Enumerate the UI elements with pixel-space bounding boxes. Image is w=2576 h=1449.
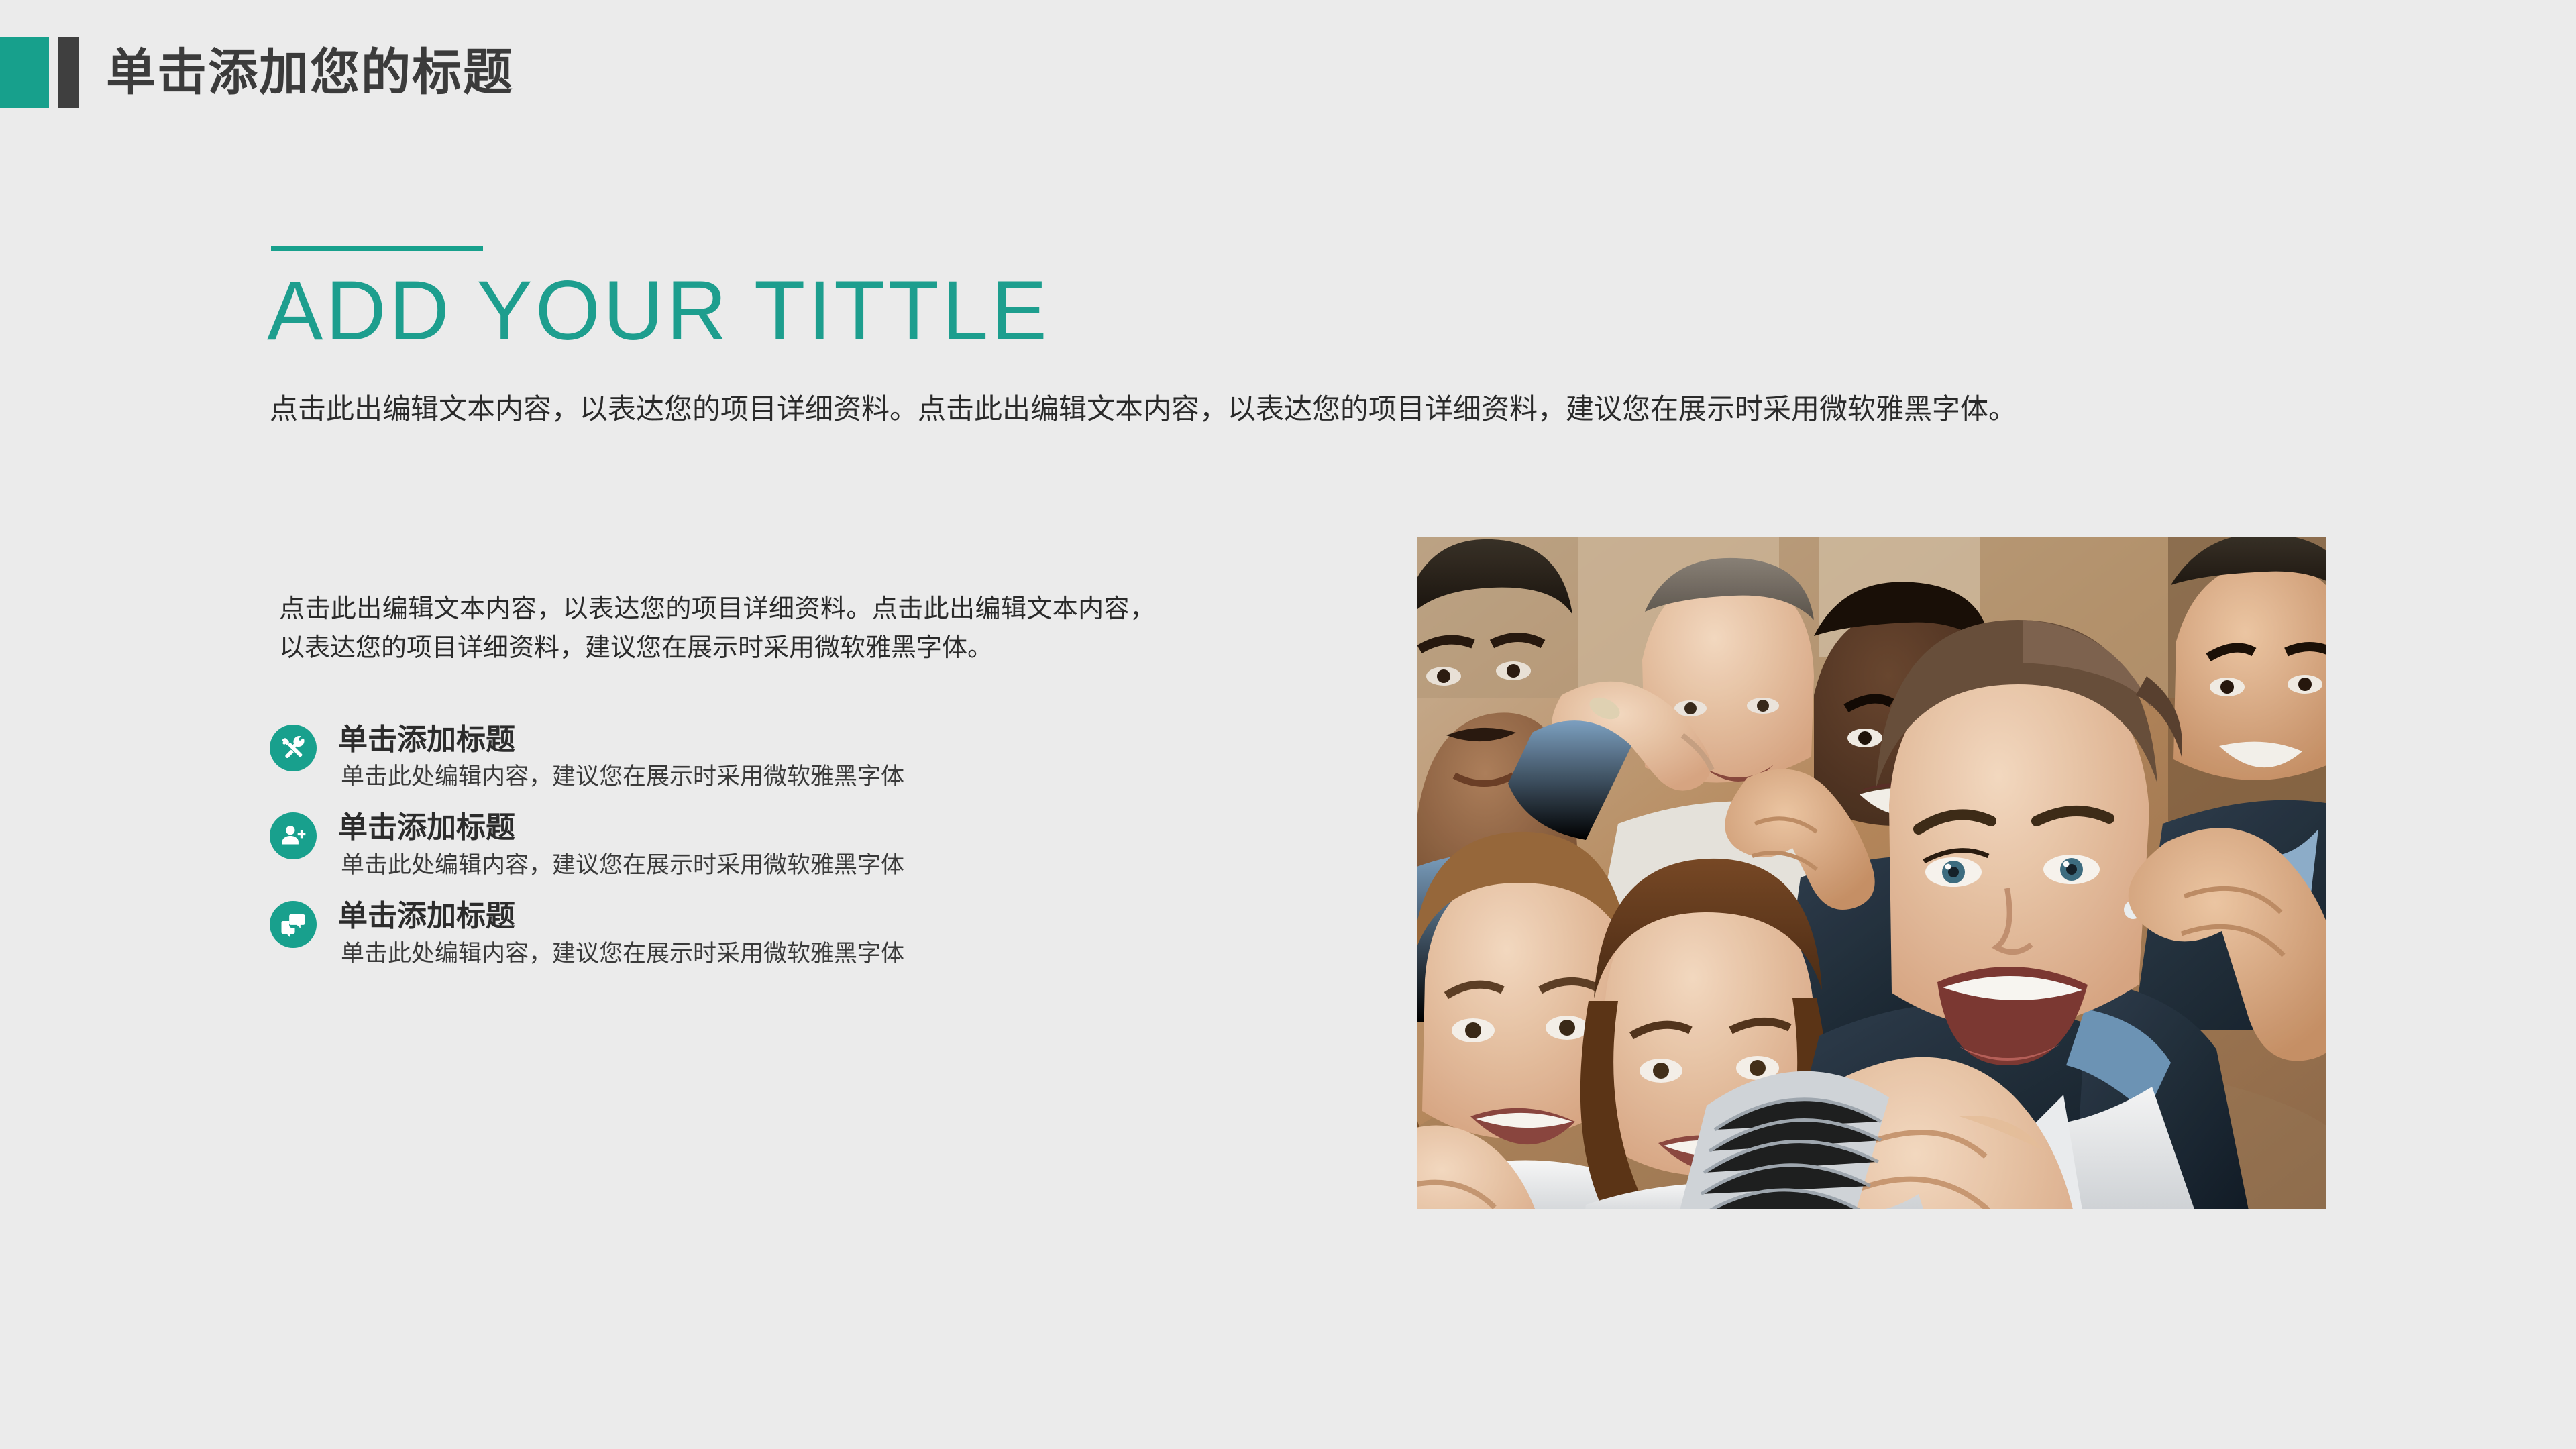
feature-title: 单击添加标题 — [338, 723, 1155, 757]
header-accent-gap — [49, 37, 58, 108]
slide-header: 单击添加您的标题 — [0, 37, 514, 108]
header-accent-block — [0, 37, 49, 108]
feature-text: 单击添加标题 单击此处编辑内容，建议您在展示时采用微软雅黑字体 — [338, 811, 1155, 881]
feature-title: 单击添加标题 — [338, 900, 1155, 934]
feature-description: 单击此处编辑内容，建议您在展示时采用微软雅黑字体 — [338, 849, 1155, 881]
team-photo — [1417, 537, 2326, 1209]
section-heading: ADD YOUR TITTLE — [267, 267, 1050, 355]
list-item[interactable]: 单击添加标题 单击此处编辑内容，建议您在展示时采用微软雅黑字体 — [270, 723, 1155, 793]
section-rule — [271, 246, 483, 251]
left-column-paragraph: 点击此出编辑文本内容，以表达您的项目详细资料。点击此出编辑文本内容，以表达您的项… — [279, 590, 1155, 668]
tools-icon — [270, 724, 317, 771]
list-item[interactable]: 单击添加标题 单击此处编辑内容，建议您在展示时采用微软雅黑字体 — [270, 811, 1155, 881]
feature-text: 单击添加标题 单击此处编辑内容，建议您在展示时采用微软雅黑字体 — [338, 900, 1155, 969]
page-title: 单击添加您的标题 — [106, 48, 514, 97]
feature-list: 单击添加标题 单击此处编辑内容，建议您在展示时采用微软雅黑字体 单击添加 — [270, 723, 1155, 970]
left-column: 点击此出编辑文本内容，以表达您的项目详细资料。点击此出编辑文本内容，以表达您的项… — [270, 590, 1155, 988]
feature-title: 单击添加标题 — [338, 811, 1155, 845]
feature-text: 单击添加标题 单击此处编辑内容，建议您在展示时采用微软雅黑字体 — [338, 723, 1155, 793]
chat-bubbles-icon — [270, 901, 317, 948]
lead-paragraph: 点击此出编辑文本内容，以表达您的项目详细资料。点击此出编辑文本内容，以表达您的项… — [270, 389, 2376, 430]
header-accent-bar — [58, 37, 79, 108]
add-user-icon — [270, 812, 317, 859]
feature-description: 单击此处编辑内容，建议您在展示时采用微软雅黑字体 — [338, 938, 1155, 969]
feature-description: 单击此处编辑内容，建议您在展示时采用微软雅黑字体 — [338, 761, 1155, 792]
slide-canvas: 单击添加您的标题 ADD YOUR TITTLE 点击此出编辑文本内容，以表达您… — [0, 0, 2576, 1449]
list-item[interactable]: 单击添加标题 单击此处编辑内容，建议您在展示时采用微软雅黑字体 — [270, 900, 1155, 969]
